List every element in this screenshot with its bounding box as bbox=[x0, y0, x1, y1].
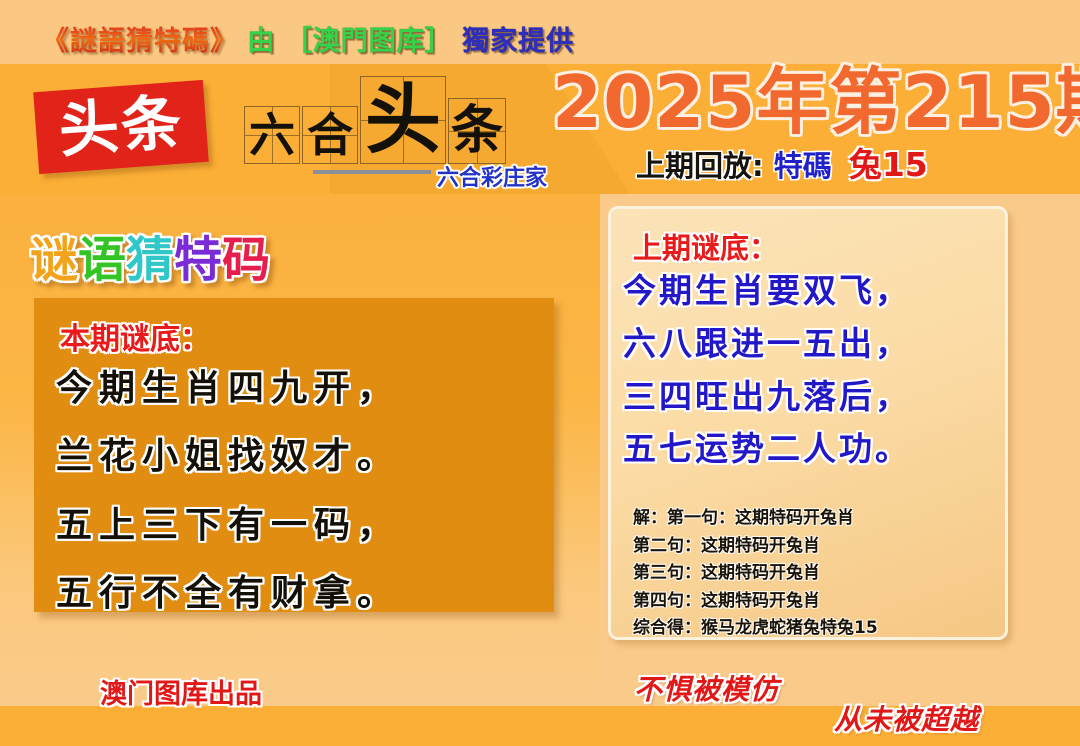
rainbow-char-1: 谜 bbox=[30, 236, 78, 284]
grid-cell-3: 头 bbox=[360, 76, 446, 164]
grid-char-3: 头 bbox=[365, 85, 441, 155]
current-riddle-verses: 今期生肖四九开， 兰花小姐找奴才。 五上三下有一码， 五行不全有财拿。 bbox=[56, 354, 546, 628]
issue-title: 2025年第215期 bbox=[552, 66, 1080, 138]
header-source-name: ［澳門图库］ bbox=[285, 26, 453, 57]
grid-char-1: 六 bbox=[249, 114, 295, 156]
footer-slogan-secondary: 从未被超越 bbox=[834, 698, 979, 738]
explanation-line: 综合得：猴马龙虎蛇猪兔特兔15 bbox=[633, 615, 997, 643]
verse-line: 今期生肖四九开， bbox=[56, 354, 546, 422]
rainbow-char-4: 特 bbox=[174, 236, 222, 284]
brand-character-grid: 六 合 头 条 bbox=[244, 76, 508, 164]
riddle-section-title: 谜语猜特码 bbox=[30, 236, 270, 284]
previous-riddle-card: 上期谜底： 今期生肖要双飞， 六八跟进一五出， 三四旺出九落后， 五七运势二人功… bbox=[608, 206, 1008, 640]
verse-line: 今期生肖要双飞， bbox=[623, 265, 1001, 318]
header-credit-line: 《謎語猜特碼》 由 ［澳門图库］ 獨家提供 bbox=[42, 19, 574, 58]
footer-slogan-primary: 不惧被模仿 bbox=[634, 668, 779, 708]
grid-char-2: 合 bbox=[307, 114, 353, 156]
rainbow-char-3: 猜 bbox=[126, 236, 174, 284]
toutiao-badge-label: 头条 bbox=[57, 93, 185, 162]
replay-label: 上期回放: bbox=[636, 149, 764, 183]
toutiao-badge: 头条 bbox=[33, 80, 209, 174]
poster-canvas: 《謎語猜特碼》 由 ［澳門图库］ 獨家提供 头条 六 合 头 条 六合彩庄家 2… bbox=[0, 0, 1080, 746]
explanation-line: 第四句：这期特码开兔肖 bbox=[633, 588, 997, 616]
rainbow-char-2: 语 bbox=[78, 236, 126, 284]
header-exclusive: 獨家提供 bbox=[462, 26, 574, 57]
replay-special-value: 兔15 bbox=[849, 145, 928, 184]
grid-cell-1: 六 bbox=[244, 106, 300, 164]
previous-riddle-heading: 上期谜底： bbox=[633, 225, 778, 267]
rainbow-char-5: 码 bbox=[222, 236, 270, 284]
verse-line: 五上三下有一码， bbox=[56, 491, 546, 559]
grid-cell-4: 条 bbox=[448, 98, 506, 164]
explanation-line: 解：第一句：这期特码开兔肖 bbox=[633, 505, 997, 533]
footer-brand-label: 澳门图库出品 bbox=[100, 672, 262, 711]
current-riddle-heading: 本期谜底： bbox=[60, 314, 210, 358]
previous-riddle-explanations: 解：第一句：这期特码开兔肖 第二句：这期特码开兔肖 第三句：这期特码开兔肖 第四… bbox=[633, 505, 997, 643]
explanation-line: 第二句：这期特码开兔肖 bbox=[633, 533, 997, 561]
brand-tagline: 六合彩庄家 bbox=[437, 160, 547, 192]
grid-char-4: 条 bbox=[451, 107, 503, 155]
previous-draw-summary: 上期回放: 特碼 兔15 bbox=[636, 148, 928, 181]
verse-line: 五七运势二人功。 bbox=[623, 423, 1001, 476]
verse-line: 三四旺出九落后， bbox=[623, 371, 1001, 424]
previous-riddle-verses: 今期生肖要双飞， 六八跟进一五出， 三四旺出九落后， 五七运势二人功。 bbox=[623, 265, 1001, 476]
grid-cell-2: 合 bbox=[302, 106, 358, 164]
explanation-line: 第三句：这期特码开兔肖 bbox=[633, 560, 997, 588]
current-riddle-card: 本期谜底： 今期生肖四九开， 兰花小姐找奴才。 五上三下有一码， 五行不全有财拿… bbox=[34, 298, 554, 612]
header-title-quoted: 《謎語猜特碼》 bbox=[42, 26, 238, 57]
verse-line: 五行不全有财拿。 bbox=[56, 559, 546, 627]
verse-line: 兰花小姐找奴才。 bbox=[56, 422, 546, 490]
verse-line: 六八跟进一五出， bbox=[623, 318, 1001, 371]
header-by-word: 由 bbox=[247, 26, 275, 57]
tagline-divider bbox=[313, 170, 431, 174]
replay-special-label: 特碼 bbox=[774, 149, 832, 183]
